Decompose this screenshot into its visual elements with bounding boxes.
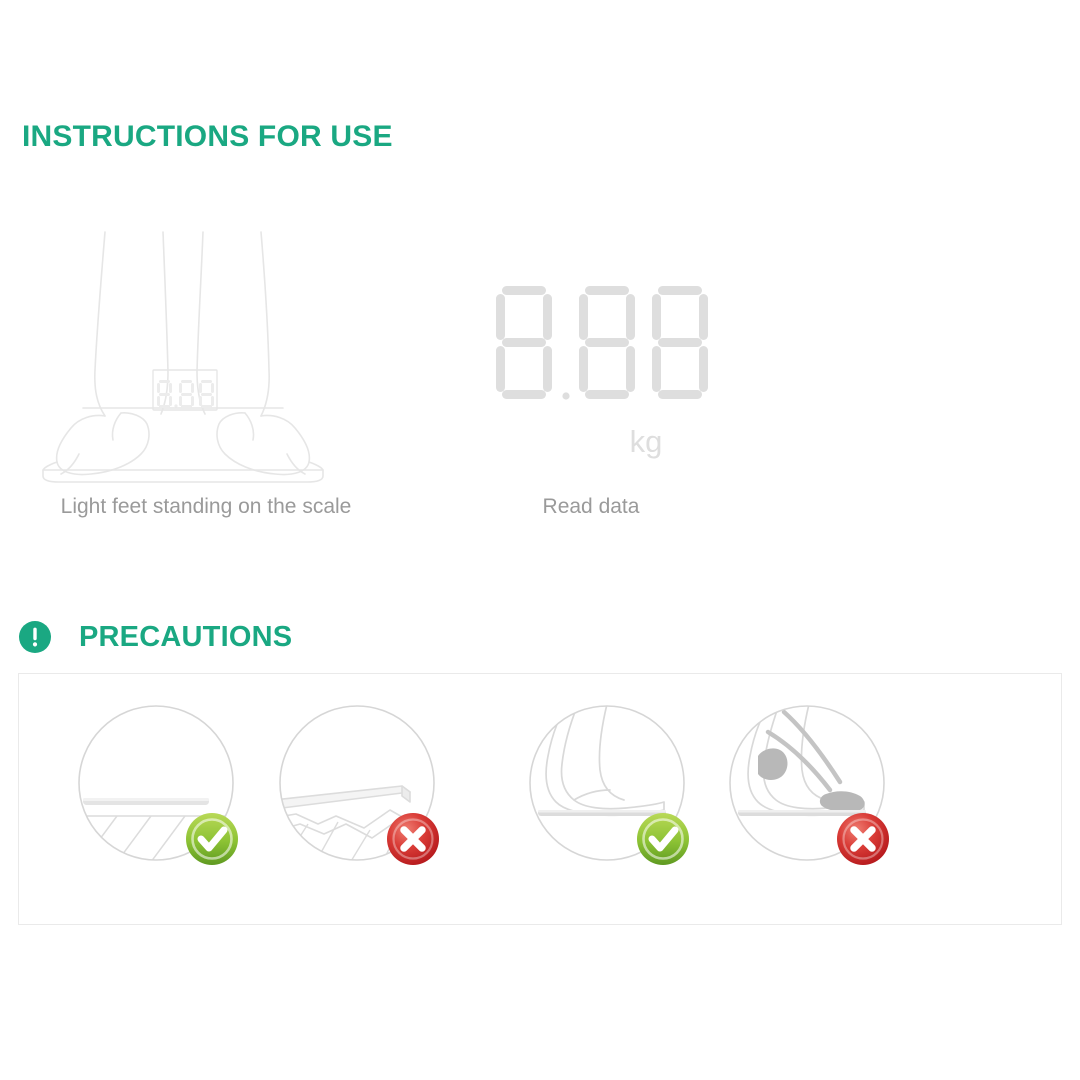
exclamation-circle-icon xyxy=(19,621,51,653)
lcd-display-illustration: kg xyxy=(430,230,752,480)
precautions-panel xyxy=(18,673,1062,925)
precautions-title: PRECAUTIONS xyxy=(79,621,292,654)
instruction-step-light-feet: Light feet standing on the scale xyxy=(35,230,377,530)
cross-badge xyxy=(837,813,889,865)
check-badge xyxy=(186,813,238,865)
instruction-step-caption: Light feet standing on the scale xyxy=(35,495,377,519)
bare-foot-on-scale-illustration xyxy=(522,698,702,878)
legs-standing-on-scale-illustration xyxy=(35,230,377,480)
cross-badge xyxy=(387,813,439,865)
precaution-item-hard-flat-surface xyxy=(71,698,251,878)
lcd-digits xyxy=(496,286,708,400)
check-badge xyxy=(637,813,689,865)
instruction-steps: Light feet standing on the scale xyxy=(0,230,1080,530)
page-title: INSTRUCTIONS FOR USE xyxy=(22,120,393,154)
instruction-step-caption: Read data xyxy=(430,495,752,519)
precaution-item-bare-feet xyxy=(522,698,702,878)
precaution-item-soft-uneven-surface xyxy=(272,698,452,878)
sock-foot-on-scale-illustration xyxy=(722,698,902,878)
scale-on-carpet-illustration xyxy=(272,698,452,878)
precaution-item-socks-or-shoes xyxy=(722,698,902,878)
precautions-heading: PRECAUTIONS xyxy=(19,616,292,658)
lcd-unit-label: kg xyxy=(630,424,663,460)
instruction-step-read-data: kg Read data xyxy=(430,230,752,530)
scale-on-hard-floor-illustration xyxy=(71,698,251,878)
scale-mini-display xyxy=(157,380,214,408)
